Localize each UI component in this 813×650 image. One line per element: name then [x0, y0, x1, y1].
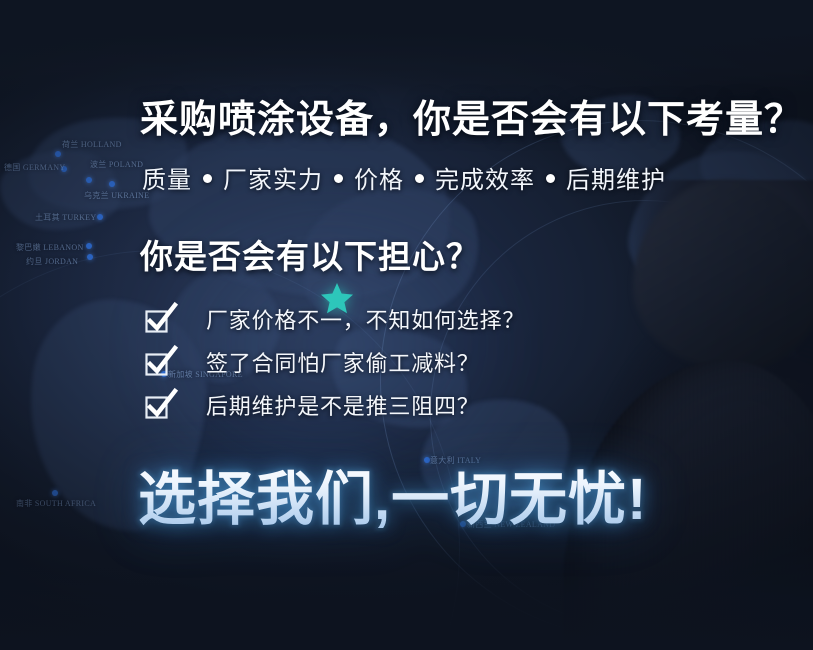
feature-item: 后期维护 — [566, 160, 666, 195]
feature-item: 质量 — [142, 160, 192, 195]
feature-separator-dot — [546, 174, 555, 183]
promo-banner: 荷兰 HOLLAND波兰 POLAND德国 GERMANY乌克兰 UKRAINE… — [0, 0, 813, 650]
feature-item: 完成效率 — [435, 160, 535, 195]
feature-item: 厂家实力 — [223, 160, 323, 195]
banner-content: 采购喷涂设备，你是否会有以下考量？ 质量厂家实力价格完成效率后期维护 你是否会有… — [0, 0, 813, 650]
feature-item: 价格 — [354, 160, 404, 195]
feature-list: 质量厂家实力价格完成效率后期维护 — [142, 160, 666, 195]
checklist-item: 签了合同怕厂家偷工减料？ — [146, 346, 525, 378]
checkbox-checked-icon — [146, 395, 167, 416]
feature-separator-dot — [334, 174, 343, 183]
checklist-item-label: 后期维护是不是推三阻四？ — [206, 389, 480, 421]
section-question: 你是否会有以下担心？ — [140, 230, 480, 278]
checklist-item: 后期维护是不是推三阻四？ — [146, 389, 525, 421]
page-title: 采购喷涂设备，你是否会有以下考量？ — [140, 88, 803, 143]
checklist-item: 厂家价格不一，不知如何选择？ — [146, 303, 525, 335]
feature-separator-dot — [203, 174, 212, 183]
checklist-item-label: 签了合同怕厂家偷工减料？ — [206, 346, 480, 378]
checkbox-checked-icon — [146, 352, 167, 373]
checkbox-checked-icon — [146, 309, 167, 330]
feature-separator-dot — [415, 174, 424, 183]
concern-checklist: 厂家价格不一，不知如何选择？签了合同怕厂家偷工减料？后期维护是不是推三阻四？ — [146, 303, 525, 432]
slogan: 选择我们,一切无忧! — [138, 452, 647, 536]
checklist-item-label: 厂家价格不一，不知如何选择？ — [206, 303, 525, 335]
